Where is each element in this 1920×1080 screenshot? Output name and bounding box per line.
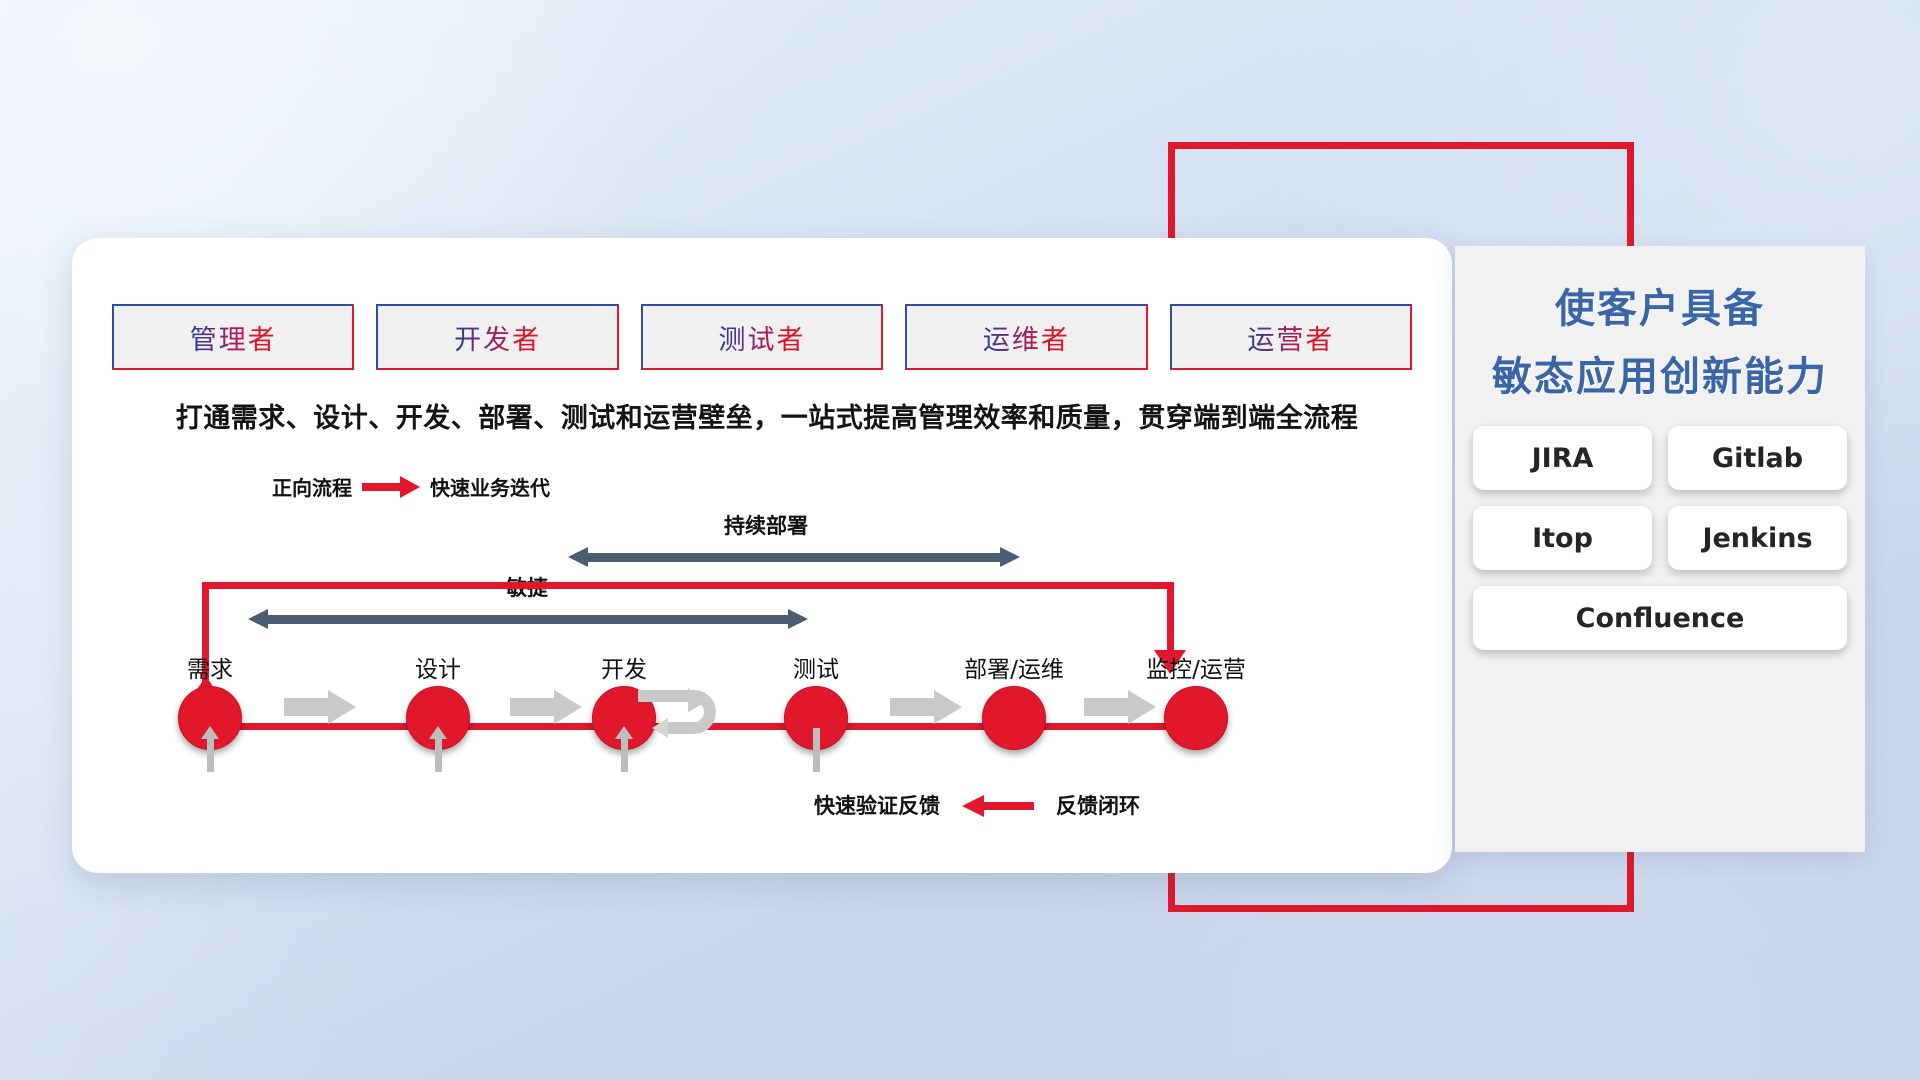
stage-label: 部署/运维	[954, 650, 1074, 684]
arrow-left-red-icon	[962, 800, 1034, 811]
role-box-tester[interactable]: 测试者	[641, 304, 883, 370]
iteration-loop-icon	[632, 682, 728, 738]
role-label: 管理者	[190, 318, 277, 357]
double-arrow-continuous-deployment-icon	[568, 548, 1020, 566]
tool-chip-jenkins[interactable]: Jenkins	[1668, 506, 1847, 570]
feedback-stem	[207, 738, 214, 772]
role-label: 运维者	[983, 318, 1070, 357]
role-box-operations[interactable]: 运营者	[1170, 304, 1412, 370]
legend-forward-left-label: 正向流程	[272, 472, 352, 501]
panel-title-line2: 敏态应用创新能力	[1455, 344, 1865, 402]
legend-feedback-loop: 快速验证反馈 反馈闭环	[814, 790, 1140, 820]
stage-label: 需求	[150, 650, 270, 684]
legend-forward-right-label: 快速业务迭代	[430, 472, 550, 501]
tool-chip-itop[interactable]: Itop	[1473, 506, 1652, 570]
legend-feedback-right-label: 反馈闭环	[1056, 790, 1140, 820]
tool-chip-jira[interactable]: JIRA	[1473, 426, 1652, 490]
stage-dot-icon	[1164, 686, 1228, 750]
tool-chip-gitlab[interactable]: Gitlab	[1668, 426, 1847, 490]
flow-arrow-grey-icon	[284, 690, 356, 724]
arrow-right-red-icon	[362, 481, 420, 492]
role-box-ops[interactable]: 运维者	[905, 304, 1147, 370]
tool-chip-confluence[interactable]: Confluence	[1473, 586, 1847, 650]
connector-line-bottom	[1168, 905, 1634, 912]
tool-chip-grid: JIRA Gitlab Itop Jenkins Confluence	[1473, 426, 1847, 650]
role-box-developer[interactable]: 开发者	[376, 304, 618, 370]
pipeline-stage-monitor-operations[interactable]: 监控/运营	[1136, 650, 1256, 750]
devops-overview-card: 管理者 开发者 测试者 运维者 运营者 打通需求、设计、开发、部署、测试和运营壁…	[72, 238, 1452, 873]
stage-dot-icon	[982, 686, 1046, 750]
capability-panel: 使客户具备 敏态应用创新能力 JIRA Gitlab Itop Jenkins …	[1455, 246, 1865, 852]
span-label-continuous-deployment: 持续部署	[724, 510, 808, 540]
stage-label: 开发	[564, 650, 684, 684]
feedback-stem-arrow-icon	[201, 726, 219, 739]
double-arrow-agile-icon	[248, 610, 808, 628]
pipeline-stage-deploy-ops[interactable]: 部署/运维	[954, 650, 1074, 750]
stage-label: 测试	[756, 650, 876, 684]
role-box-row: 管理者 开发者 测试者 运维者 运营者	[112, 304, 1412, 370]
feedback-stem	[813, 728, 820, 772]
feedback-stem-arrow-icon	[615, 726, 633, 739]
flow-arrow-grey-icon	[890, 690, 962, 724]
legend-feedback-left-label: 快速验证反馈	[814, 790, 940, 820]
role-label: 开发者	[454, 318, 541, 357]
feedback-stem-arrow-icon	[429, 726, 447, 739]
connector-line-left-top	[1168, 142, 1175, 247]
role-label: 运营者	[1247, 318, 1334, 357]
pipeline-row: 需求 设计 开发 测试 部署/运	[112, 630, 1412, 750]
stage-label: 监控/运营	[1136, 650, 1256, 684]
panel-title-line1: 使客户具备	[1455, 276, 1865, 334]
feedback-stem	[621, 738, 628, 772]
legend-forward-flow: 正向流程 快速业务迭代	[272, 472, 550, 501]
role-label: 测试者	[719, 318, 806, 357]
stage-label: 设计	[378, 650, 498, 684]
feedback-loop-top-rail	[202, 582, 1174, 589]
role-box-manager[interactable]: 管理者	[112, 304, 354, 370]
headline-text: 打通需求、设计、开发、部署、测试和运营壁垒，一站式提高管理效率和质量，贯穿端到端…	[122, 396, 1412, 435]
connector-line-top	[1168, 142, 1634, 149]
feedback-stem	[435, 738, 442, 772]
